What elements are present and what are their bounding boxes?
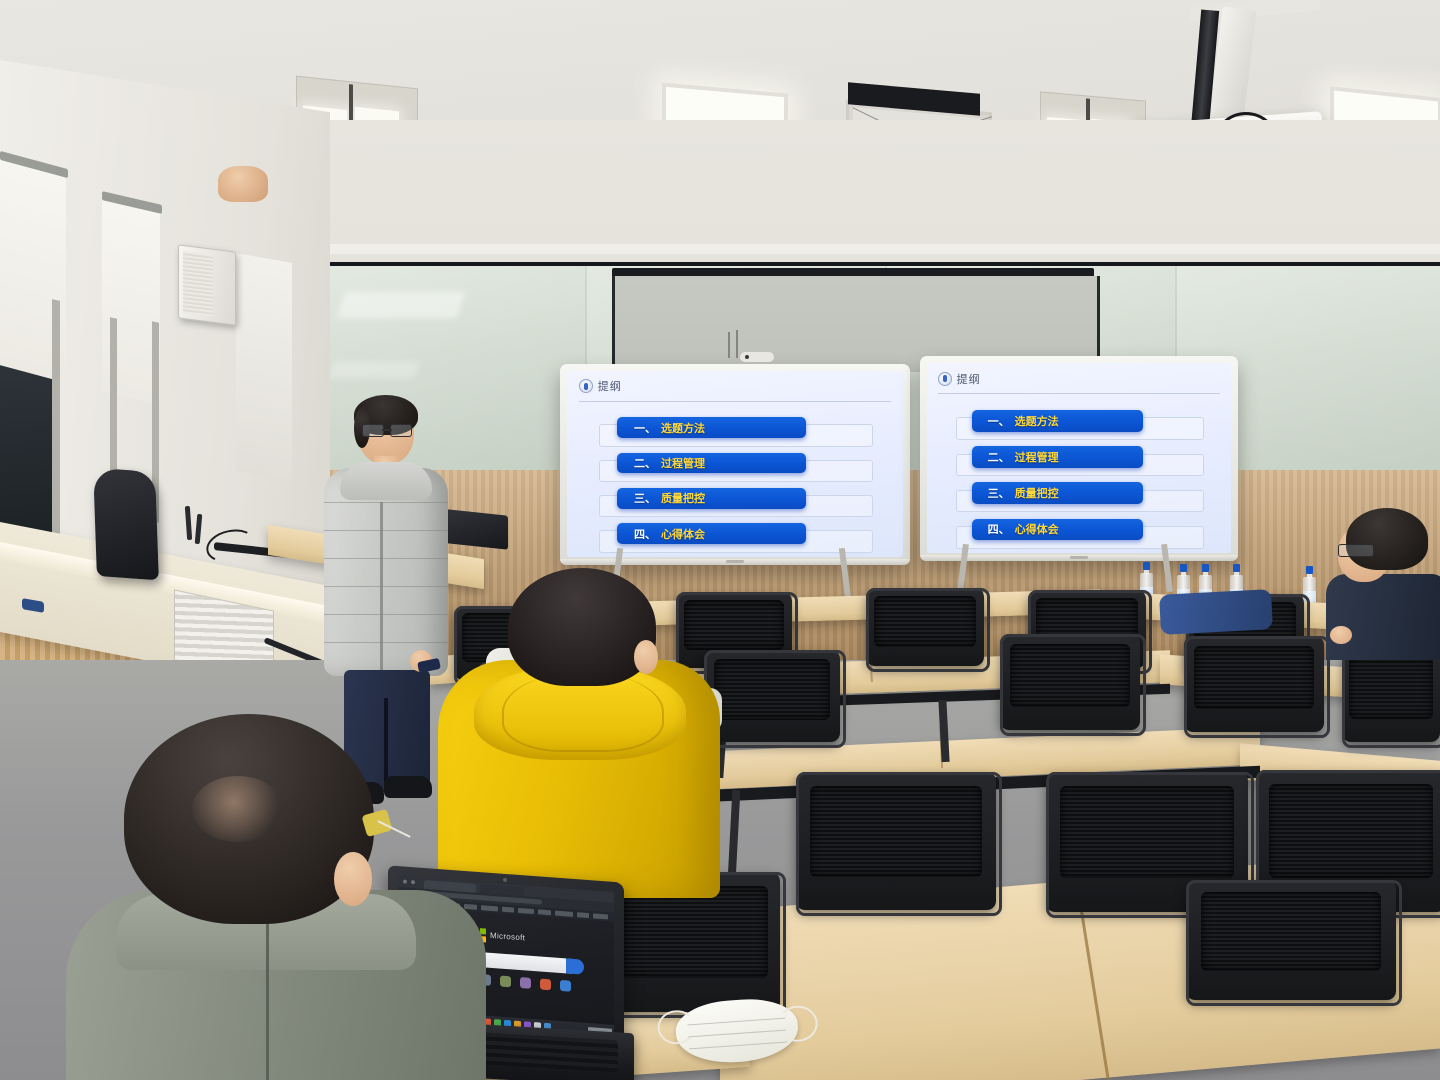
wall-speaker [178,244,236,325]
quicklink-7-icon[interactable] [560,980,571,992]
webcam-antenna-2 [736,330,738,358]
conference-webcam [740,352,774,362]
presenter-hood [340,462,432,500]
right-attendee-hand [1330,626,1352,644]
slide-header: 提纲 [938,371,981,387]
slide-title-text: 提纲 [957,371,981,387]
slide-divider [938,393,1221,394]
microsoft-wordmark: Microsoft [490,931,525,943]
slide-bullet-bar: 三、 质量把控 [617,488,806,509]
slide-divider [579,401,891,402]
slide-bullet-list: 一、 选题方法 二、 过程管理 三、 质量把控 [927,399,1231,551]
bullet-number: 一、 [988,413,1010,429]
chair-r2-c2[interactable] [704,650,840,742]
slide-bullet-bar: 一、 选题方法 [617,417,806,438]
webcam-antenna-1 [728,332,730,358]
chair-r2-c4[interactable] [1184,636,1324,732]
bullet-number: 二、 [988,449,1010,465]
bullet-number: 一、 [634,420,656,436]
foreground-attendee-seam [266,914,269,1080]
slide-bullet-bar: 一、 选题方法 [972,410,1143,431]
yellow-hoodie-attendee [438,568,720,898]
slide-bullet-bar: 四、 心得体会 [617,523,806,544]
search-submit-icon[interactable] [566,958,584,974]
wall-trim [180,244,1440,254]
right-display-screen: 提纲 一、 选题方法 二、 过程管理 [927,363,1231,553]
yellow-attendee-hair [508,568,656,686]
chair-r4-c2[interactable] [1186,880,1396,1000]
bullet-number: 二、 [634,455,656,471]
slide-bullet-list: 一、 选题方法 二、 过程管理 三、 质量把控 [567,406,903,555]
yellow-attendee-ear [634,640,658,674]
right-attendee-glasses [1338,544,1374,557]
bullet-text: 心得体会 [661,526,705,542]
foreground-attendee-hand [218,166,268,202]
bullet-text: 质量把控 [661,490,705,506]
speaker-person-icon [938,372,952,386]
left-display[interactable]: 提纲 一、 选题方法 二、 过程管理 [560,364,910,564]
slide-bullet-bar: 三、 质量把控 [972,482,1143,503]
laptop-webcam [503,878,507,882]
slide-bullet-row: 三、 质量把控 [604,484,866,512]
slide-bullet-row: 三、 质量把控 [960,479,1197,508]
foreground-attendee-scalp [192,776,284,842]
bullet-text: 过程管理 [661,455,705,471]
right-display[interactable]: 提纲 一、 选题方法 二、 过程管理 [920,356,1238,560]
bullet-text: 选题方法 [1015,413,1059,429]
quicklink-4-icon[interactable] [500,976,511,988]
bullet-number: 三、 [988,485,1010,501]
right-attendee-body [1326,574,1440,660]
black-backpack [93,468,159,581]
foreground-attendee [96,714,456,1080]
right-attendee-hair [1346,508,1428,570]
slide-header: 提纲 [579,378,622,394]
slide-bullet-row: 二、 过程管理 [604,449,866,477]
slide-bullet-row: 一、 选题方法 [604,413,866,441]
bullet-number: 四、 [988,521,1010,537]
chair-r1-c3[interactable] [866,588,984,666]
left-wall-pillar [236,253,292,481]
bullet-number: 四、 [634,526,656,542]
slide-bullet-row: 一、 选题方法 [960,406,1197,435]
right-attendee-blue-jacket-on-desk [1159,589,1273,635]
slide-bullet-row: 四、 心得体会 [960,515,1197,544]
slide-bullet-row: 四、 心得体会 [604,520,866,548]
chair-r2-c5[interactable] [1342,648,1440,742]
quicklink-6-icon[interactable] [540,978,551,990]
bullet-text: 过程管理 [1015,449,1059,465]
left-display-logo [726,560,744,563]
right-display-logo [1070,556,1088,559]
chair-r2-c3[interactable] [1000,634,1140,730]
slide-bullet-bar: 四、 心得体会 [972,519,1143,540]
foreground-attendee-ear [334,852,372,906]
bullet-text: 选题方法 [661,420,705,436]
presenter-glasses [362,424,412,436]
presenter-jacket-zipper [380,502,383,670]
slide-bullet-bar: 二、 过程管理 [617,453,806,474]
speaker-grille [183,251,213,317]
left-display-screen: 提纲 一、 选题方法 二、 过程管理 [567,371,903,557]
bullet-text: 心得体会 [1015,521,1059,537]
window-mullion-1 [52,299,60,541]
classroom-scene: 提纲 一、 选题方法 二、 过程管理 [0,0,1440,1080]
quicklink-5-icon[interactable] [520,977,531,989]
slide-bullet-row: 二、 过程管理 [960,443,1197,472]
slide-title-text: 提纲 [598,378,622,394]
bullet-number: 三、 [634,490,656,506]
right-seated-attendee [1332,508,1440,658]
speaker-person-icon [579,379,593,393]
slide-bullet-bar: 二、 过程管理 [972,446,1143,467]
bullet-text: 质量把控 [1015,485,1059,501]
chair-r3-c2[interactable] [796,772,996,910]
